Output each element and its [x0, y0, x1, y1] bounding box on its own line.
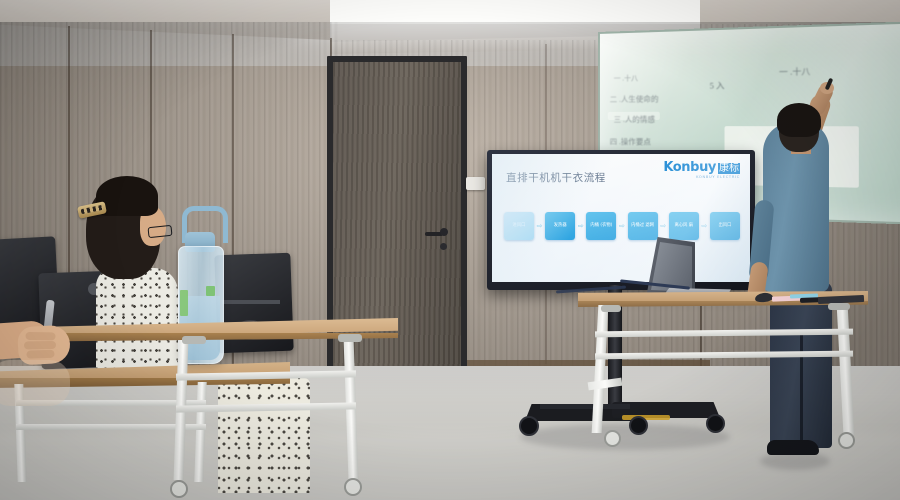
bottle-label	[180, 290, 188, 316]
bottle-label	[206, 286, 215, 296]
flow-arrow-icon: ⇨	[701, 223, 707, 230]
presenter-shoe	[767, 440, 819, 455]
table-hinge	[828, 303, 850, 310]
logo-tagline: KONBUY ELECTRIC	[696, 175, 740, 179]
meeting-room-scene: 一 .十八 二 .人生使命的 三 .人的情感 四 .操作要点 5 入 一 .十八…	[0, 0, 900, 500]
flow-step-5: 出风口	[710, 212, 740, 240]
wall-switch[interactable]	[466, 177, 485, 190]
flow-step-4: 离心风 扇	[669, 212, 699, 240]
logo-text: Konbuy	[663, 161, 716, 174]
flow-arrow-icon: ⇨	[537, 223, 543, 230]
floor-reflection-layer	[0, 366, 900, 500]
airflow-diagram: 进风口 ⇨ 发热器 ⇨ 内桶 (衣物) ⇨ 内桶过 滤网 ⇨ 离心风 扇 ⇨ 出…	[504, 212, 740, 240]
ceiling-light-panel	[297, 0, 732, 24]
caster-wheel	[838, 432, 855, 449]
caster-wheel	[629, 416, 648, 435]
flow-arrow-icon: ⇨	[619, 223, 625, 230]
caster-wheel	[344, 478, 362, 496]
door-lock-icon	[440, 243, 447, 250]
caster-wheel	[706, 414, 725, 433]
tv-stand-bar	[540, 404, 630, 409]
flow-step-2: 内桶 (衣物)	[586, 212, 616, 240]
flow-arrow-icon: ⇨	[660, 223, 666, 230]
flow-step-3: 内桶过 滤网	[628, 212, 658, 240]
table-hinge	[338, 334, 362, 342]
attendee-body	[0, 360, 70, 406]
flow-step-0: 进风口	[504, 212, 534, 240]
presenter-hair	[777, 103, 821, 137]
caster-wheel	[519, 416, 539, 436]
table-hinge	[601, 305, 621, 312]
logo-chinese: 康标	[718, 163, 740, 174]
finger	[26, 350, 54, 359]
flow-step-1: 发热器	[545, 212, 575, 240]
slide-title: 直排干机机干衣流程	[506, 170, 606, 185]
table-hinge	[182, 336, 206, 344]
wall-display-screen[interactable]: 直排干机机干衣流程 Konbuy 康标 KONBUY ELECTRIC 进风口 …	[492, 154, 750, 282]
door-escutcheon-icon	[440, 228, 448, 236]
attendee-torso	[96, 268, 178, 378]
brand-logo: Konbuy 康标	[663, 161, 740, 174]
chair-detail	[222, 300, 280, 304]
caster-wheel	[604, 430, 621, 447]
finger	[25, 332, 55, 341]
attendee-lap	[218, 378, 310, 493]
finger	[24, 341, 56, 350]
flow-arrow-icon: ⇨	[578, 223, 584, 230]
floor-reflection	[520, 424, 730, 450]
presenter-leg-seam	[800, 330, 803, 448]
caster-wheel	[170, 480, 188, 498]
